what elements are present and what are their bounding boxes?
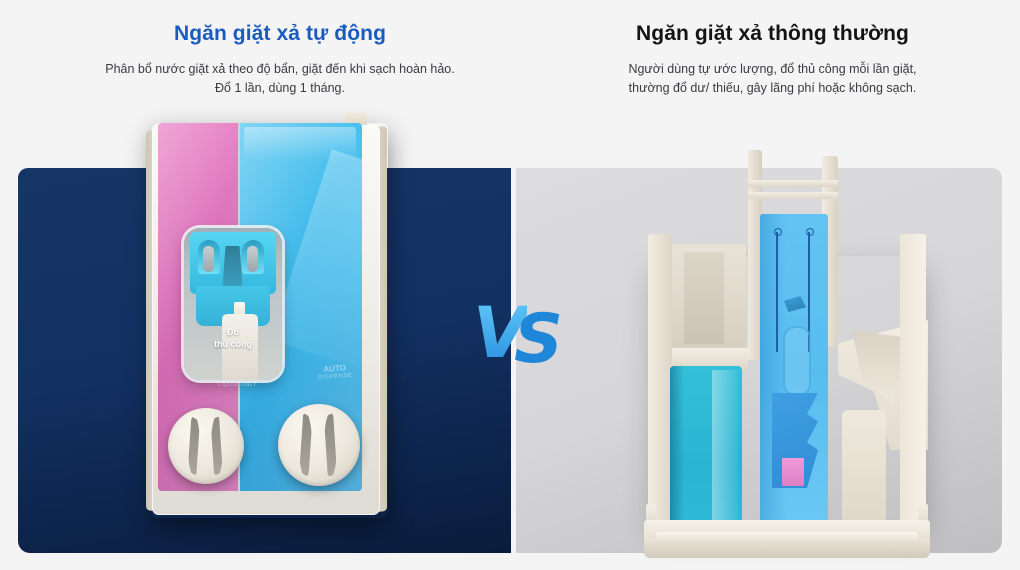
manual-dispenser-illustration bbox=[636, 148, 936, 523]
auto-dispense-watermark-main: AUTO bbox=[323, 363, 346, 374]
manual-pour-caption: Đổ thủ công bbox=[184, 326, 282, 350]
dispenser-slot-left bbox=[203, 246, 214, 272]
manual-inner-panel-recess bbox=[684, 252, 724, 344]
detergent-cap bbox=[278, 404, 360, 486]
manual-column-oval bbox=[783, 326, 811, 396]
left-heading-block: Ngăn giặt xả tự động Phân bổ nước giặt x… bbox=[40, 22, 520, 99]
left-title: Ngăn giặt xả tự động bbox=[40, 22, 520, 46]
comparison-stage: Ngăn giặt xả tự động Phân bổ nước giặt x… bbox=[0, 0, 1020, 570]
manual-tower-rung-bottom bbox=[748, 192, 838, 199]
detergent-cap-slit-right bbox=[324, 413, 337, 477]
dispenser-slot-right bbox=[247, 246, 258, 272]
right-description-line-1: Người dùng tự ước lượng, đổ thủ công mỗi… bbox=[628, 62, 916, 76]
right-heading-block: Ngăn giặt xả thông thường Người dùng tự … bbox=[545, 22, 1000, 99]
manual-base-lip bbox=[656, 532, 918, 542]
liquid-only-watermark: LIQUID ONLY bbox=[218, 382, 257, 388]
manual-shell-right-wall bbox=[900, 234, 926, 534]
left-description: Phân bổ nước giặt xả theo độ bẩn, giặt đ… bbox=[40, 60, 520, 99]
versus-badge: V S bbox=[473, 298, 568, 376]
manual-pour-line-1: Đổ bbox=[227, 327, 239, 337]
left-description-line-1: Phân bổ nước giặt xả theo độ bẩn, giặt đ… bbox=[105, 62, 454, 76]
right-description: Người dùng tự ước lượng, đổ thủ công mỗi… bbox=[545, 60, 1000, 99]
manual-empty-slot bbox=[842, 410, 886, 538]
versus-letter-s: S bbox=[514, 306, 563, 374]
manual-softener-residue bbox=[782, 458, 804, 486]
manual-pour-line-2: thủ công bbox=[214, 339, 252, 349]
manual-rod-cap-right bbox=[806, 228, 814, 236]
drawer-top-highlight bbox=[244, 127, 356, 161]
softener-cap-slit-left bbox=[188, 416, 200, 475]
manual-rod-left bbox=[776, 232, 778, 352]
right-title: Ngăn giặt xả thông thường bbox=[545, 22, 1000, 46]
manual-pour-inset: Đổ thủ công bbox=[184, 228, 282, 380]
right-description-line-2: thường đổ dư/ thiếu, gây lãng phí hoặc k… bbox=[629, 81, 917, 95]
manual-shell-left-wall bbox=[648, 234, 672, 534]
detergent-reservoir-gloss bbox=[712, 370, 738, 530]
detergent-cap-slit-left bbox=[299, 413, 312, 477]
manual-rod-cap-left bbox=[774, 228, 782, 236]
softener-cap-slit-right bbox=[211, 416, 223, 475]
manual-tower-rung-top bbox=[748, 180, 838, 187]
softener-cap bbox=[168, 408, 244, 484]
detergent-reservoir-shade bbox=[670, 366, 684, 534]
left-description-line-2: Đổ 1 lần, dùng 1 tháng. bbox=[215, 81, 345, 95]
